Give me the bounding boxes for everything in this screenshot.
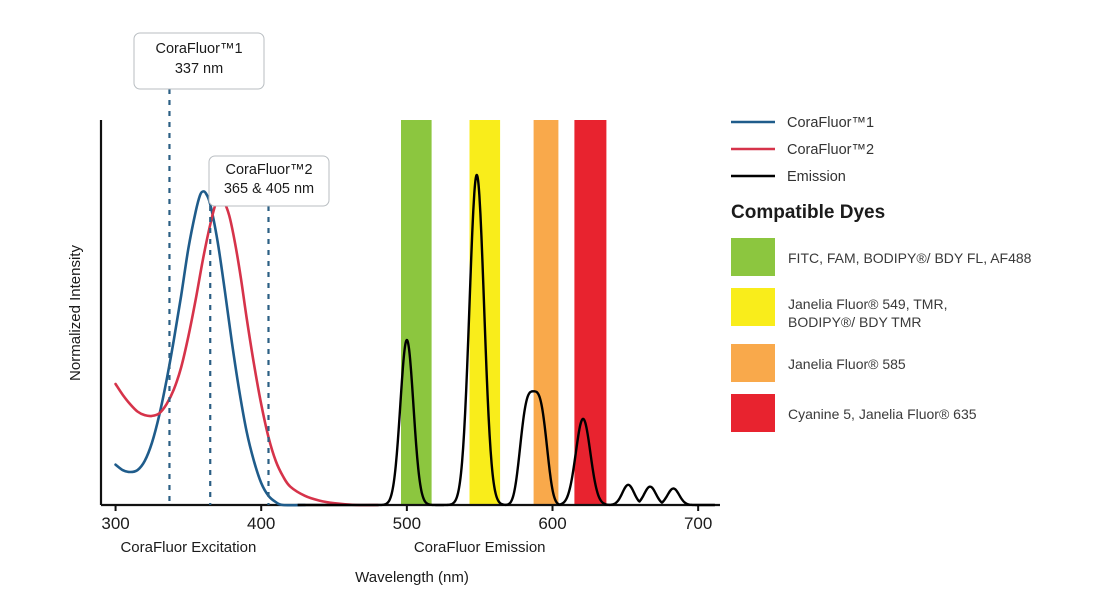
fluorescence-spectra-figure: 300400500600700CoraFluor ExcitationCoraF… bbox=[0, 0, 1110, 612]
curve-corafluor2 bbox=[116, 199, 378, 506]
x-axis-title: Wavelength (nm) bbox=[355, 569, 469, 586]
region-labels: CoraFluor ExcitationCoraFluor Emission bbox=[120, 539, 545, 556]
x-tick-label: 500 bbox=[393, 514, 421, 533]
legend-label: Emission bbox=[787, 169, 846, 185]
compatible-dyes-section: Compatible DyesFITC, FAM, BODIPY®/ BDY F… bbox=[731, 202, 1032, 432]
callout-title: CoraFluor™2 bbox=[225, 162, 312, 178]
legend-label: CoraFluor™2 bbox=[787, 142, 874, 158]
x-tick-label: 700 bbox=[684, 514, 712, 533]
dye-swatch bbox=[731, 238, 775, 276]
series-legend: CoraFluor™1CoraFluor™2Emission bbox=[731, 115, 874, 185]
dye-label: FITC, FAM, BODIPY®/ BDY FL, AF488 bbox=[788, 250, 1032, 266]
dye-swatch bbox=[731, 288, 775, 326]
callout-value: 337 nm bbox=[175, 61, 223, 77]
callout-title: CoraFluor™1 bbox=[155, 41, 242, 57]
dye-label-line2: BODIPY®/ BDY TMR bbox=[788, 314, 922, 330]
region-label: CoraFluor Emission bbox=[414, 539, 546, 556]
curve-corafluor1 bbox=[116, 191, 305, 505]
callout-value: 365 & 405 nm bbox=[224, 181, 314, 197]
x-axis-ticks: 300400500600700 bbox=[101, 505, 712, 533]
x-tick-label: 400 bbox=[247, 514, 275, 533]
compatible-dyes-heading: Compatible Dyes bbox=[731, 202, 885, 223]
dye-label: Janelia Fluor® 549, TMR, bbox=[788, 296, 947, 312]
dye-label: Cyanine 5, Janelia Fluor® 635 bbox=[788, 406, 977, 422]
dye-label: Janelia Fluor® 585 bbox=[788, 356, 906, 372]
dye-swatch bbox=[731, 394, 775, 432]
dye-swatch bbox=[731, 344, 775, 382]
region-label: CoraFluor Excitation bbox=[120, 539, 256, 556]
x-tick-label: 300 bbox=[101, 514, 129, 533]
x-tick-label: 600 bbox=[538, 514, 566, 533]
curve-emission bbox=[298, 175, 715, 505]
y-axis-title: Normalized Intensity bbox=[67, 245, 84, 381]
legend-label: CoraFluor™1 bbox=[787, 115, 874, 131]
excitation-markers: CoraFluor™1337 nmCoraFluor™2365 & 405 nm bbox=[134, 33, 329, 505]
